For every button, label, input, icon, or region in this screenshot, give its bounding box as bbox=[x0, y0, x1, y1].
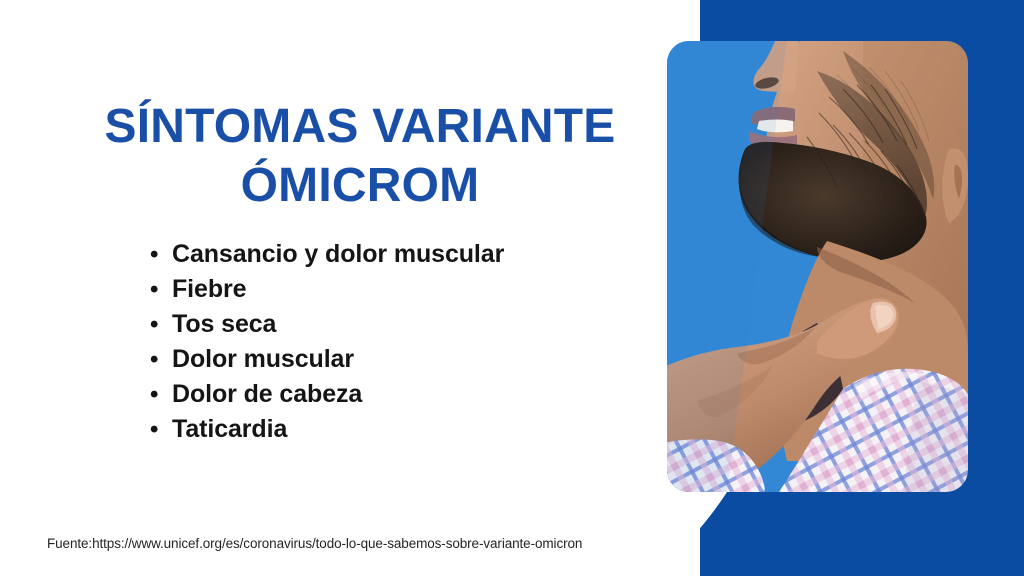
photo-illustration bbox=[667, 41, 968, 492]
bullet-icon: • bbox=[150, 243, 172, 267]
list-item: • Cansancio y dolor muscular bbox=[150, 240, 630, 275]
list-item: • Taticardia bbox=[150, 415, 630, 450]
bullet-icon: • bbox=[150, 383, 172, 407]
symptom-label: Tos seca bbox=[172, 310, 276, 339]
list-item: • Dolor de cabeza bbox=[150, 380, 630, 415]
bullet-icon: • bbox=[150, 348, 172, 372]
bullet-icon: • bbox=[150, 418, 172, 442]
source-note: Fuente:https://www.unicef.org/es/coronav… bbox=[47, 536, 582, 551]
symptom-label: Taticardia bbox=[172, 415, 287, 444]
list-item: • Fiebre bbox=[150, 275, 630, 310]
symptom-label: Dolor de cabeza bbox=[172, 380, 362, 409]
symptom-label: Fiebre bbox=[172, 275, 246, 304]
list-item: • Tos seca bbox=[150, 310, 630, 345]
list-item: • Dolor muscular bbox=[150, 345, 630, 380]
bullet-icon: • bbox=[150, 313, 172, 337]
page-title: SÍNTOMAS VARIANTE ÓMICROM bbox=[60, 98, 660, 215]
bullet-icon: • bbox=[150, 278, 172, 302]
symptom-label: Dolor muscular bbox=[172, 345, 354, 374]
slide-canvas: SÍNTOMAS VARIANTE ÓMICROM • Cansancio y … bbox=[0, 0, 1024, 576]
symptom-photo bbox=[667, 41, 968, 492]
symptom-label: Cansancio y dolor muscular bbox=[172, 240, 504, 269]
symptom-list: • Cansancio y dolor muscular • Fiebre • … bbox=[150, 240, 630, 450]
